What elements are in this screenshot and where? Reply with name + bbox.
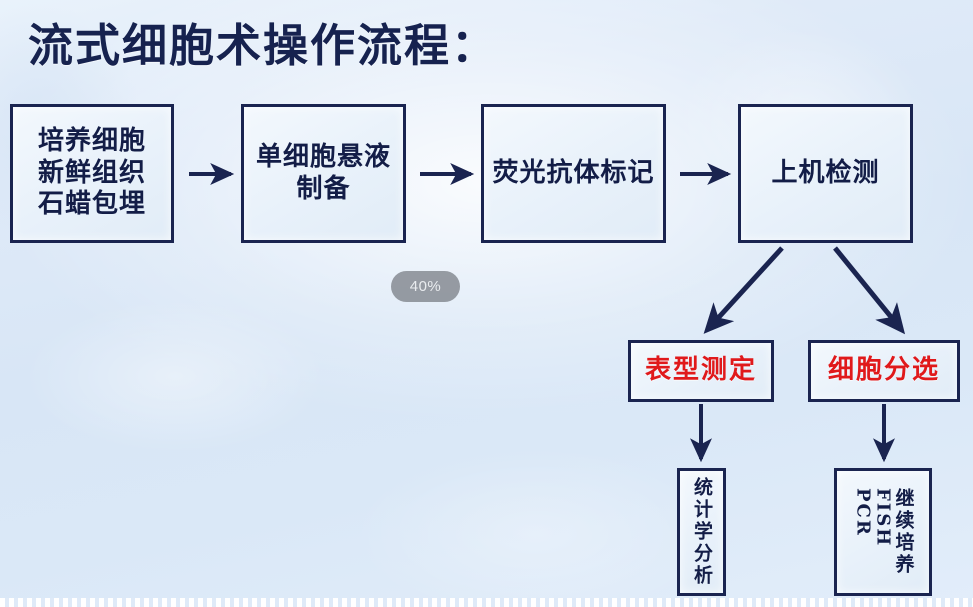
flow-node-branch-left-label: 表型测定 bbox=[645, 355, 757, 387]
flow-node-step-3[interactable]: 荧光抗体标记 bbox=[481, 104, 666, 243]
zoom-level-badge[interactable]: 40% bbox=[391, 271, 460, 302]
flow-node-leaf-right[interactable]: 继续培养 FISH PCR bbox=[834, 468, 932, 596]
flow-node-leaf-left[interactable]: 统计学分析 bbox=[677, 468, 726, 596]
flow-node-leaf-right-column-2: FISH bbox=[874, 488, 892, 547]
bottom-perforation-strip bbox=[0, 598, 973, 607]
page-title: 流式细胞术操作流程： bbox=[28, 9, 498, 74]
flow-node-step-3-label: 荧光抗体标记 bbox=[492, 158, 654, 190]
connector-step4-to-branch-left bbox=[709, 248, 782, 328]
flow-node-branch-left[interactable]: 表型测定 bbox=[628, 340, 774, 402]
flow-node-step-1-label: 培养细胞 新鲜组织 石蜡包埋 bbox=[38, 126, 146, 221]
flow-node-leaf-left-column-1: 统计学分析 bbox=[692, 477, 711, 587]
flow-node-step-2-label: 单细胞悬液 制备 bbox=[256, 142, 391, 205]
flow-node-branch-right[interactable]: 细胞分选 bbox=[808, 340, 960, 402]
zoom-level-label: 40% bbox=[410, 278, 442, 295]
slide-canvas: 流式细胞术操作流程： 培养细胞 新鲜组织 石蜡包埋 单细胞悬液 制备 荧光抗体标… bbox=[0, 0, 973, 607]
flow-node-step-1[interactable]: 培养细胞 新鲜组织 石蜡包埋 bbox=[10, 104, 174, 243]
flow-node-step-4-label: 上机检测 bbox=[771, 158, 879, 190]
flow-node-leaf-right-column-3: PCR bbox=[854, 488, 872, 537]
flow-node-step-2[interactable]: 单细胞悬液 制备 bbox=[241, 104, 406, 243]
connector-step4-to-branch-right bbox=[835, 248, 900, 328]
flow-node-step-4[interactable]: 上机检测 bbox=[738, 104, 913, 243]
vertical-text-group-right: 继续培养 FISH PCR bbox=[854, 488, 913, 576]
vertical-text-group-left: 统计学分析 bbox=[692, 477, 711, 587]
flow-connectors bbox=[0, 0, 973, 607]
flow-node-leaf-right-column-1: 继续培养 bbox=[894, 488, 913, 576]
flow-node-branch-right-label: 细胞分选 bbox=[828, 355, 940, 387]
